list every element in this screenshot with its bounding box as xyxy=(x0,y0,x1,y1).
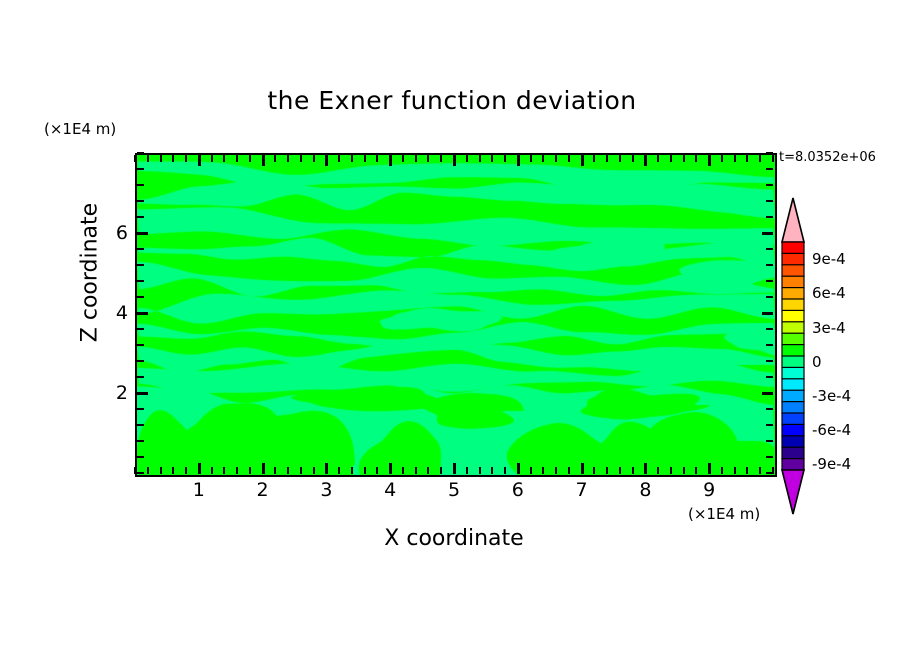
y-minor-tick-left xyxy=(137,168,144,170)
y-minor-tick-left xyxy=(137,184,144,186)
x-minor-tick-bottom xyxy=(593,467,595,474)
colorbar-band xyxy=(782,276,804,288)
y-minor-tick-right xyxy=(766,376,773,378)
x-tick-label: 6 xyxy=(512,479,524,501)
x-minor-tick-bottom xyxy=(185,467,187,474)
x-major-tick-top xyxy=(644,155,647,166)
x-minor-tick-bottom xyxy=(364,467,366,474)
x-minor-tick-bottom xyxy=(683,467,685,474)
y-minor-tick-left xyxy=(137,456,144,458)
x-tick-label: 8 xyxy=(639,479,651,501)
x-minor-tick-bottom xyxy=(695,467,697,474)
x-minor-tick-top xyxy=(313,155,315,162)
x-major-tick-bottom xyxy=(581,463,584,474)
x-minor-tick-top xyxy=(695,155,697,162)
y-minor-tick-left xyxy=(137,472,144,474)
colorbar-band xyxy=(782,424,804,436)
y-minor-tick-right xyxy=(766,248,773,250)
y-tick-label: 2 xyxy=(116,382,128,404)
y-minor-tick-left xyxy=(137,296,144,298)
x-minor-tick-bottom xyxy=(746,467,748,474)
x-minor-tick-top xyxy=(593,155,595,162)
y-minor-tick-right xyxy=(766,472,773,474)
timestamp-annotation: t=8.0352e+06 xyxy=(779,150,876,165)
x-minor-tick-bottom xyxy=(491,467,493,474)
x-minor-tick-top xyxy=(185,155,187,162)
x-minor-tick-top xyxy=(376,155,378,162)
x-minor-tick-bottom xyxy=(530,467,532,474)
x-minor-tick-top xyxy=(606,155,608,162)
y-minor-tick-right xyxy=(766,168,773,170)
x-minor-tick-bottom xyxy=(427,467,429,474)
x-minor-tick-top xyxy=(440,155,442,162)
x-major-tick-top xyxy=(262,155,265,166)
page-title: the Exner function deviation xyxy=(0,86,904,115)
colorbar-band xyxy=(782,345,804,357)
x-minor-tick-top xyxy=(427,155,429,162)
y-minor-tick-left xyxy=(137,408,144,410)
x-minor-tick-top xyxy=(568,155,570,162)
x-minor-tick-top xyxy=(160,155,162,162)
y-minor-tick-left xyxy=(137,280,144,282)
colorbar-band xyxy=(782,436,804,448)
x-minor-tick-top xyxy=(530,155,532,162)
x-minor-tick-bottom xyxy=(542,467,544,474)
x-major-tick-bottom xyxy=(198,463,201,474)
x-major-tick-bottom xyxy=(453,463,456,474)
figure-canvas: the Exner function deviation (×1E4 m) (×… xyxy=(0,0,904,654)
x-major-tick-top xyxy=(389,155,392,166)
x-minor-tick-bottom xyxy=(287,467,289,474)
colorbar-band xyxy=(782,447,804,459)
y-major-tick-right xyxy=(762,312,773,315)
y-minor-tick-right xyxy=(766,200,773,202)
y-minor-tick-right xyxy=(766,216,773,218)
x-minor-tick-top xyxy=(338,155,340,162)
colorbar-band xyxy=(782,322,804,334)
x-minor-tick-top xyxy=(351,155,353,162)
colorbar-tick-label: -9e-4 xyxy=(812,455,851,473)
x-minor-tick-top xyxy=(772,155,774,162)
x-minor-tick-bottom xyxy=(734,467,736,474)
y-minor-tick-right xyxy=(766,280,773,282)
x-minor-tick-top xyxy=(211,155,213,162)
x-minor-tick-top xyxy=(683,155,685,162)
x-minor-tick-bottom xyxy=(172,467,174,474)
x-minor-tick-bottom xyxy=(300,467,302,474)
x-minor-tick-top xyxy=(249,155,251,162)
x-minor-tick-bottom xyxy=(721,467,723,474)
x-minor-tick-bottom xyxy=(415,467,417,474)
x-minor-tick-bottom xyxy=(568,467,570,474)
y-minor-tick-left xyxy=(137,376,144,378)
colorbar-tick-label: -3e-4 xyxy=(812,387,851,405)
y-minor-tick-right xyxy=(766,440,773,442)
x-major-tick-bottom xyxy=(389,463,392,474)
x-minor-tick-bottom xyxy=(351,467,353,474)
y-minor-tick-right xyxy=(766,360,773,362)
y-major-tick-right xyxy=(762,392,773,395)
colorbar-band xyxy=(782,242,804,254)
colorbar-tick-label: 9e-4 xyxy=(812,250,846,268)
colorbar-band xyxy=(782,253,804,265)
x-minor-tick-bottom xyxy=(134,467,136,474)
colorbar-tick-label: 6e-4 xyxy=(812,284,846,302)
y-minor-tick-left xyxy=(137,344,144,346)
x-minor-tick-top xyxy=(759,155,761,162)
colorbar-band xyxy=(782,299,804,311)
x-minor-tick-bottom xyxy=(466,467,468,474)
x-minor-tick-bottom xyxy=(670,467,672,474)
colorbar-swatches xyxy=(778,196,808,516)
x-minor-tick-bottom xyxy=(160,467,162,474)
x-tick-label: 1 xyxy=(193,479,205,501)
y-minor-tick-right xyxy=(766,456,773,458)
colorbar-band xyxy=(782,333,804,345)
colorbar-band xyxy=(782,379,804,391)
x-tick-label: 4 xyxy=(384,479,396,501)
x-axis-title: X coordinate xyxy=(135,526,773,551)
y-minor-tick-right xyxy=(766,344,773,346)
x-minor-tick-top xyxy=(466,155,468,162)
y-major-tick-right xyxy=(762,232,773,235)
x-minor-tick-top xyxy=(134,155,136,162)
colorbar-under-arrow xyxy=(782,470,804,514)
x-major-tick-top xyxy=(581,155,584,166)
x-minor-tick-bottom xyxy=(657,467,659,474)
x-minor-tick-top xyxy=(734,155,736,162)
x-minor-tick-top xyxy=(619,155,621,162)
colorbar-band xyxy=(782,459,804,471)
x-minor-tick-top xyxy=(287,155,289,162)
x-major-tick-top xyxy=(708,155,711,166)
y-minor-tick-left xyxy=(137,152,144,154)
y-tick-label: 6 xyxy=(116,222,128,244)
y-minor-tick-left xyxy=(137,248,144,250)
x-tick-label: 9 xyxy=(703,479,715,501)
y-minor-tick-left xyxy=(137,440,144,442)
colorbar-band xyxy=(782,402,804,414)
y-minor-tick-left xyxy=(137,216,144,218)
x-minor-tick-bottom xyxy=(504,467,506,474)
x-minor-tick-top xyxy=(415,155,417,162)
contour-field xyxy=(137,155,775,475)
x-major-tick-top xyxy=(198,155,201,166)
colorbar-band xyxy=(782,413,804,425)
y-minor-tick-left xyxy=(137,264,144,266)
x-minor-tick-bottom xyxy=(376,467,378,474)
x-minor-tick-top xyxy=(274,155,276,162)
x-minor-tick-bottom xyxy=(606,467,608,474)
x-minor-tick-bottom xyxy=(249,467,251,474)
x-minor-tick-top xyxy=(746,155,748,162)
x-minor-tick-bottom xyxy=(274,467,276,474)
colorbar-band xyxy=(782,367,804,379)
x-minor-tick-top xyxy=(491,155,493,162)
x-minor-tick-bottom xyxy=(479,467,481,474)
x-tick-label: 7 xyxy=(576,479,588,501)
x-minor-tick-bottom xyxy=(338,467,340,474)
x-minor-tick-bottom xyxy=(619,467,621,474)
y-minor-tick-left xyxy=(137,200,144,202)
y-major-tick-left xyxy=(137,232,148,235)
x-minor-tick-bottom xyxy=(223,467,225,474)
y-minor-tick-right xyxy=(766,152,773,154)
x-minor-tick-top xyxy=(542,155,544,162)
x-minor-tick-top xyxy=(147,155,149,162)
y-major-tick-left xyxy=(137,392,148,395)
y-axis-title: Z coordinate xyxy=(78,163,103,383)
y-minor-tick-right xyxy=(766,328,773,330)
colorbar-band xyxy=(782,356,804,368)
x-minor-tick-top xyxy=(236,155,238,162)
x-major-tick-bottom xyxy=(644,463,647,474)
y-axis-unit-label: (×1E4 m) xyxy=(44,120,116,138)
plot-area xyxy=(135,153,777,477)
y-minor-tick-left xyxy=(137,360,144,362)
x-minor-tick-top xyxy=(555,155,557,162)
y-minor-tick-right xyxy=(766,296,773,298)
x-minor-tick-top xyxy=(721,155,723,162)
x-major-tick-bottom xyxy=(325,463,328,474)
x-axis-unit-label: (×1E4 m) xyxy=(688,505,760,523)
y-minor-tick-right xyxy=(766,424,773,426)
x-minor-tick-bottom xyxy=(147,467,149,474)
x-minor-tick-top xyxy=(300,155,302,162)
x-minor-tick-bottom xyxy=(313,467,315,474)
x-minor-tick-top xyxy=(479,155,481,162)
colorbar-band xyxy=(782,310,804,322)
y-tick-label: 4 xyxy=(116,302,128,324)
x-minor-tick-top xyxy=(402,155,404,162)
colorbar-tick-label: 3e-4 xyxy=(812,319,846,337)
x-major-tick-top xyxy=(517,155,520,166)
x-major-tick-top xyxy=(325,155,328,166)
x-major-tick-top xyxy=(453,155,456,166)
x-minor-tick-bottom xyxy=(236,467,238,474)
x-major-tick-bottom xyxy=(517,463,520,474)
x-minor-tick-bottom xyxy=(759,467,761,474)
colorbar-band xyxy=(782,390,804,402)
x-minor-tick-bottom xyxy=(402,467,404,474)
x-minor-tick-bottom xyxy=(555,467,557,474)
x-minor-tick-top xyxy=(172,155,174,162)
colorbar-tick-label: 0 xyxy=(812,353,822,371)
y-major-tick-left xyxy=(137,312,148,315)
colorbar xyxy=(778,196,808,516)
y-minor-tick-right xyxy=(766,184,773,186)
x-minor-tick-top xyxy=(364,155,366,162)
x-minor-tick-bottom xyxy=(440,467,442,474)
colorbar-over-arrow xyxy=(782,198,804,242)
y-minor-tick-left xyxy=(137,424,144,426)
x-tick-label: 5 xyxy=(448,479,460,501)
x-tick-label: 2 xyxy=(257,479,269,501)
x-major-tick-bottom xyxy=(262,463,265,474)
x-minor-tick-top xyxy=(657,155,659,162)
x-tick-label: 3 xyxy=(320,479,332,501)
x-minor-tick-top xyxy=(504,155,506,162)
x-minor-tick-bottom xyxy=(211,467,213,474)
y-minor-tick-right xyxy=(766,408,773,410)
x-minor-tick-top xyxy=(223,155,225,162)
y-minor-tick-right xyxy=(766,264,773,266)
colorbar-tick-label: -6e-4 xyxy=(812,421,851,439)
x-minor-tick-top xyxy=(670,155,672,162)
x-minor-tick-bottom xyxy=(632,467,634,474)
y-minor-tick-left xyxy=(137,328,144,330)
colorbar-band xyxy=(782,288,804,300)
x-major-tick-bottom xyxy=(708,463,711,474)
colorbar-band xyxy=(782,265,804,277)
x-minor-tick-top xyxy=(632,155,634,162)
